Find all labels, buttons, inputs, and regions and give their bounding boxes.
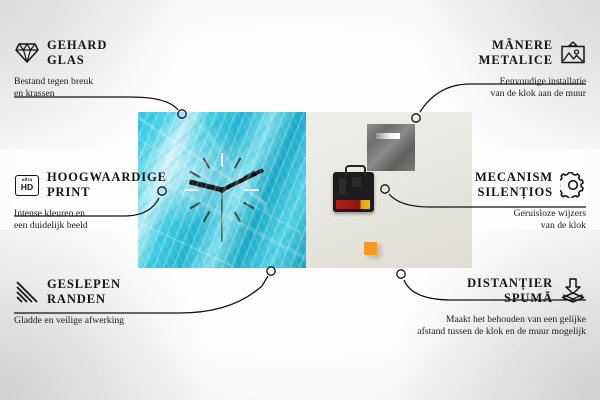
feature-header: MECANISM SILENȚIOS: [386, 170, 586, 200]
spacer-arrow-icon: [560, 278, 586, 304]
feature-desc-line1: Geruisloze wijzers: [386, 208, 586, 220]
ultra-hd-icon: ultra HD: [14, 172, 40, 198]
feature-title-line1: HOOGWAARDIGE: [47, 170, 167, 185]
mechanism-slot-right: [352, 177, 361, 187]
mechanism-slot-left: [339, 178, 346, 194]
feature-title-line1: MÂNERE: [492, 38, 553, 53]
feature-header: GEHARD GLAS: [14, 38, 194, 68]
feature-desc-line2: van de klok aan de muur: [386, 88, 586, 100]
foam-spacer: [364, 242, 377, 255]
picture-frame-icon: [560, 40, 586, 66]
feature-desc-line1: Bestand tegen breuk: [14, 76, 194, 88]
infographic-canvas: GEHARD GLAS Bestand tegen breuk en krass…: [0, 0, 600, 400]
feature-desc: Gladde en veilige afwerking: [14, 315, 214, 327]
feature-header: DISTANȚIER SPUMĂ: [346, 276, 586, 306]
feature-title-line2: METALICE: [479, 53, 553, 68]
feature-desc: Eenvoudige installatie van de klok aan d…: [386, 76, 586, 101]
feature-geslepen-randen: GESLEPEN RANDEN Gladde en veilige afwerk…: [14, 277, 214, 327]
feature-manere-metalice: MÂNERE METALICE Eenvoudige installatie v…: [386, 38, 586, 101]
feature-hoogwaardige-print: ultra HD HOOGWAARDIGE PRINT Intense kleu…: [14, 170, 214, 233]
bevelled-edge-icon: [14, 279, 40, 305]
feature-desc-line2: een duidelijk beeld: [14, 220, 214, 232]
gear-icon: [560, 172, 586, 198]
feature-desc: Intense kleuren en een duidelijk beeld: [14, 208, 214, 233]
feature-title-line2: SILENȚIOS: [478, 185, 554, 200]
feature-title-line1: MECANISM: [475, 170, 553, 185]
feature-title-line1: DISTANȚIER: [467, 276, 553, 291]
battery: [336, 200, 370, 209]
feature-desc: Geruisloze wijzers van de klok: [386, 208, 586, 233]
feature-title-line2: RANDEN: [47, 292, 121, 307]
feature-desc-line1: Eenvoudige installatie: [386, 76, 586, 88]
feature-title: HOOGWAARDIGE PRINT: [47, 170, 167, 200]
feature-desc-line1: Intense kleuren en: [14, 208, 214, 220]
feature-title-line1: GEHARD: [47, 38, 107, 53]
feature-title: MECANISM SILENȚIOS: [475, 170, 553, 200]
feature-title: DISTANȚIER SPUMĂ: [467, 276, 553, 306]
feature-desc-line2: en krassen: [14, 88, 194, 100]
hanger-hook: [345, 165, 366, 176]
feature-mecanism-silentios: MECANISM SILENȚIOS Geruisloze wijzers va…: [386, 170, 586, 233]
feature-desc: Maakt het behouden van een gelijke afsta…: [346, 314, 586, 339]
feature-gehard-glas: GEHARD GLAS Bestand tegen breuk en krass…: [14, 38, 194, 101]
plate-highlight: [376, 133, 400, 139]
feature-distantier-spuma: DISTANȚIER SPUMĂ Maakt het behouden van …: [346, 276, 586, 339]
feature-title: GEHARD GLAS: [47, 38, 107, 68]
diamond-icon: [14, 40, 40, 66]
feature-desc-line2: afstand tussen de klok en de muur mogeli…: [346, 326, 586, 338]
feature-desc-line1: Gladde en veilige afwerking: [14, 315, 214, 327]
clock-minute-hand: [221, 168, 264, 192]
feature-title-line1: GESLEPEN: [47, 277, 121, 292]
feature-header: ultra HD HOOGWAARDIGE PRINT: [14, 170, 214, 200]
feature-title: MÂNERE METALICE: [479, 38, 553, 68]
feature-header: GESLEPEN RANDEN: [14, 277, 214, 307]
feature-desc-line1: Maakt het behouden van een gelijke: [346, 314, 586, 326]
clock-center-cap: [219, 187, 225, 193]
feature-desc: Bestand tegen breuk en krassen: [14, 76, 194, 101]
clock-tick-6: [221, 153, 223, 227]
clock-second-hand: [221, 190, 222, 242]
feature-title-line2: SPUMĂ: [504, 291, 553, 306]
clock-mechanism: [333, 172, 374, 212]
feature-title-line2: PRINT: [47, 185, 167, 200]
metal-hanger-plate: [367, 124, 415, 171]
feature-header: MÂNERE METALICE: [386, 38, 586, 68]
feature-title: GESLEPEN RANDEN: [47, 277, 121, 307]
clock-tick-12: [221, 153, 223, 227]
feature-title-line2: GLAS: [47, 53, 107, 68]
feature-desc-line2: van de klok: [386, 220, 586, 232]
